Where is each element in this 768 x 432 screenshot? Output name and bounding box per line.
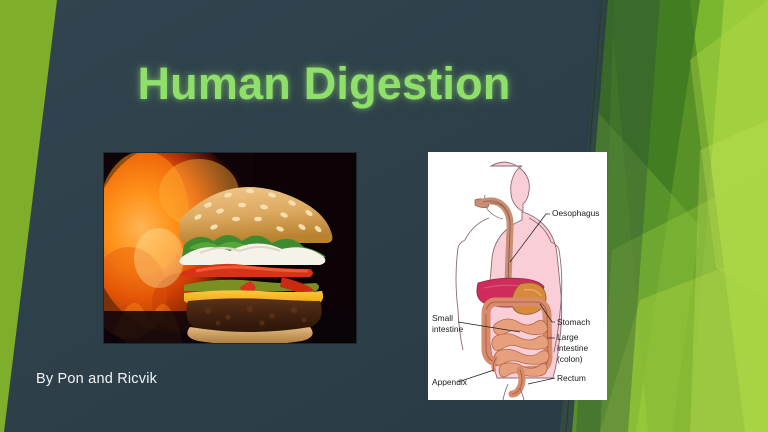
diagram-label-small-intestine-1: Small [432, 313, 453, 323]
presentation-slide: Human Digestion [0, 0, 768, 432]
slide-title: Human Digestion [0, 58, 768, 110]
diagram-label-stomach: Stomach [557, 317, 590, 327]
diagram-label-appendix: Appendix [432, 377, 468, 387]
diagram-label-large-intestine-2: intestine [557, 343, 589, 353]
diagram-label-rectum: Rectum [557, 373, 586, 383]
diagram-label-small-intestine-2: intestine [432, 324, 464, 334]
digestive-system-diagram: Oesophagus Stomach Large intestine (colo… [428, 152, 607, 400]
slide-byline: By Pon and Ricvik [36, 371, 157, 387]
diagram-label-large-intestine-3: (colon) [557, 354, 583, 364]
diagram-label-oesophagus: Oesophagus [552, 208, 600, 218]
burger-image [104, 153, 356, 343]
diagram-label-large-intestine-1: Large [557, 332, 579, 342]
